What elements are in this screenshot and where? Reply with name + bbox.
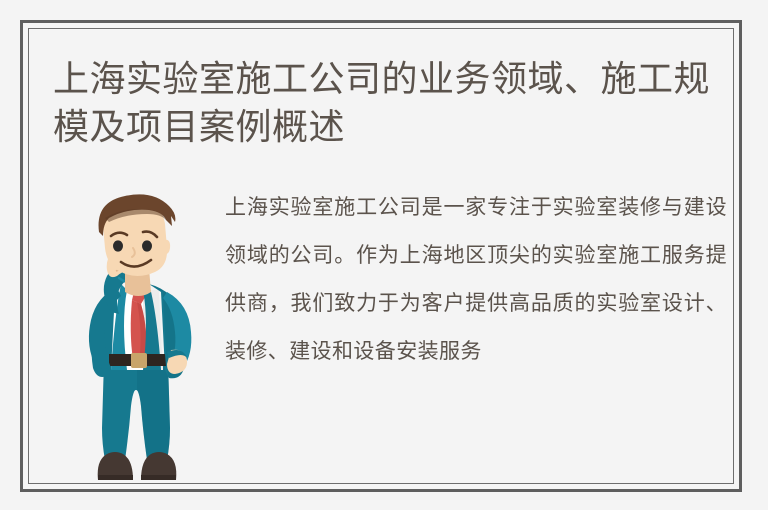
- left-eye: [113, 240, 123, 251]
- businessman-svg: [71, 192, 201, 482]
- card-content: 上海实验室施工公司的业务领域、施工规模及项目案例概述: [29, 29, 733, 483]
- right-shoe-sole: [141, 475, 176, 480]
- inner-frame-border: 上海实验室施工公司的业务领域、施工规模及项目案例概述: [28, 28, 734, 484]
- ear: [162, 240, 170, 255]
- belt-buckle: [131, 353, 147, 368]
- article-card-page: 上海实验室施工公司的业务领域、施工规模及项目案例概述: [0, 0, 768, 510]
- leg-gap: [133, 390, 139, 460]
- body-row: 上海实验室施工公司是一家专注于实验室装修与建设领域的公司。作为上海地区顶尖的实验…: [29, 184, 733, 483]
- thinking-businessman-illustration: [71, 192, 201, 482]
- left-shoe-sole: [98, 475, 133, 480]
- outer-frame-border: 上海实验室施工公司的业务领域、施工规模及项目案例概述: [20, 20, 742, 492]
- trousers-shadow: [137, 360, 170, 460]
- page-title: 上海实验室施工公司的业务领域、施工规模及项目案例概述: [53, 55, 713, 151]
- article-body: 上海实验室施工公司是一家专注于实验室装修与建设领域的公司。作为上海地区顶尖的实验…: [225, 184, 727, 376]
- right-eye: [142, 240, 152, 251]
